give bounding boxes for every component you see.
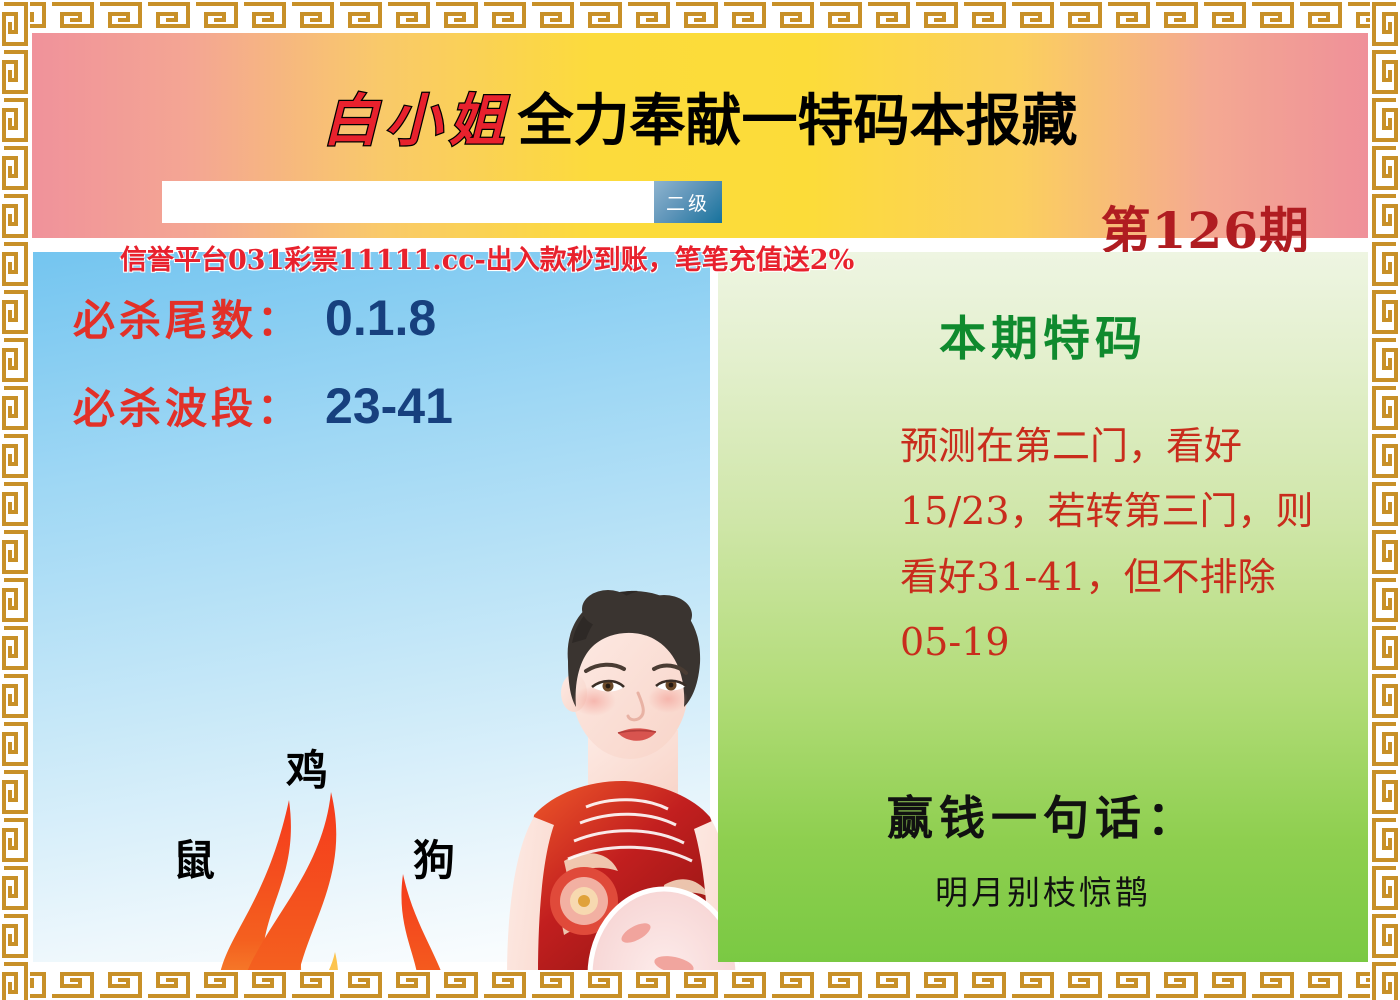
special-code-title: 本期特码 [718, 300, 1368, 369]
kill-tail-row: 必杀尾数： 0.1.8 [73, 287, 436, 348]
promo-text: 信誉平台031彩票11111.cc-出入款秒到账，笔笔充值送2% [120, 240, 854, 276]
page-title-slogan: 全力奉献一特码本报藏 [518, 89, 1078, 154]
kill-tail-value: 0.1.8 [325, 289, 436, 347]
greek-key-border-top [0, 0, 1400, 30]
zodiac-right: 狗 [413, 827, 455, 888]
kill-range-row: 必杀波段： 23-41 [73, 375, 453, 436]
zodiac-left: 鼠 [173, 827, 215, 888]
search-input[interactable] [162, 181, 654, 223]
win-phrase-label: 赢钱一句话： [718, 782, 1368, 848]
page-title-brand: 白小姐 [323, 89, 518, 154]
page-title: 白小姐全力奉献一特码本报藏 [32, 93, 1368, 150]
search-bar: 二级 [162, 181, 722, 223]
flame-icon [171, 782, 491, 1000]
right-panel: 本期特码 预测在第二门，看好15/23，若转第三门，则看好31-41，但不排除0… [718, 252, 1368, 962]
win-phrase-text: 明月别枝惊鹊 [718, 866, 1368, 914]
left-panel: 必杀尾数： 0.1.8 必杀波段： 23-41 鸡 鼠 狗 [33, 252, 710, 962]
greek-key-border-left [0, 0, 30, 1000]
kill-tail-label: 必杀尾数： [73, 287, 303, 348]
promo-strip: 信誉平台031彩票11111.cc-出入款秒到账，笔笔充值送2% [32, 240, 1368, 276]
greek-key-border-bottom [0, 970, 1400, 1000]
header-banner: 白小姐全力奉献一特码本报藏 二级 第126期 [32, 33, 1368, 238]
kill-range-label: 必杀波段： [73, 375, 303, 436]
greek-key-border-right [1370, 0, 1400, 1000]
level-two-button[interactable]: 二级 [654, 181, 722, 223]
kill-range-value: 23-41 [325, 377, 453, 435]
prediction-text: 预测在第二门，看好15/23，若转第三门，则看好31-41，但不排除05-19 [900, 414, 1320, 675]
poster-root: 白小姐全力奉献一特码本报藏 二级 第126期 信誉平台031彩票11111.cc… [0, 0, 1400, 1000]
zodiac-top: 鸡 [286, 737, 328, 798]
